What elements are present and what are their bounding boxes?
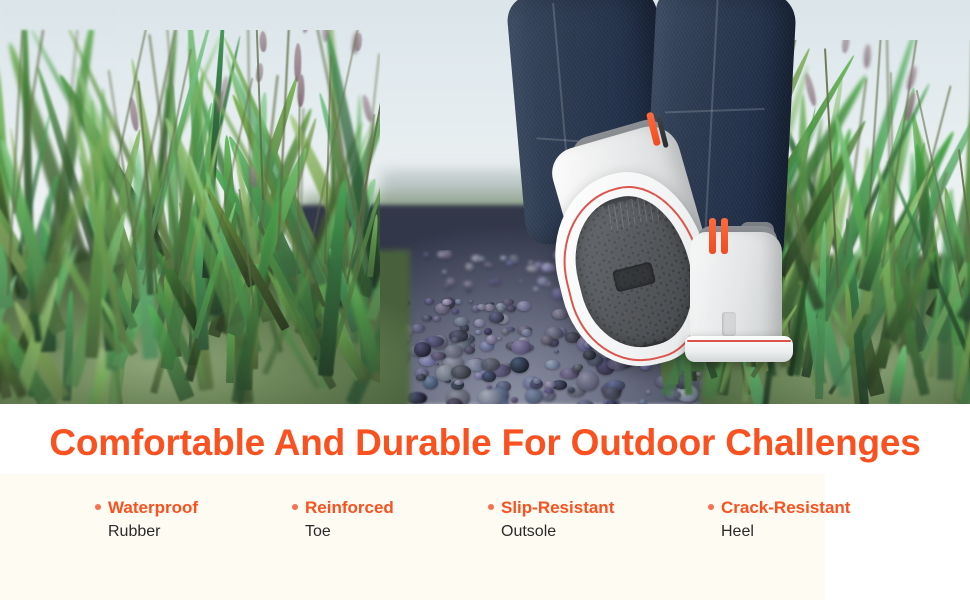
feature-title-text: Waterproof xyxy=(108,498,198,517)
feature-title: Crack-Resistant xyxy=(708,497,850,519)
pull-tab-orange xyxy=(721,218,728,254)
feature-title: Waterproof xyxy=(95,497,198,519)
product-banner: Comfortable And Durable For Outdoor Chal… xyxy=(0,0,970,600)
feature-title: Reinforced xyxy=(292,497,394,519)
bullet-dot-icon xyxy=(95,504,101,510)
page-title: Comfortable And Durable For Outdoor Chal… xyxy=(0,420,970,466)
hero-photo xyxy=(0,0,970,404)
boot-right-red-stripe xyxy=(687,340,791,342)
feature-title-text: Reinforced xyxy=(305,498,394,517)
bullet-dot-icon xyxy=(488,504,494,510)
feature-title-text: Slip-Resistant xyxy=(501,498,614,517)
feature-title: Slip-Resistant xyxy=(488,497,614,519)
feature-item: Slip-ResistantOutsole xyxy=(488,497,614,543)
feature-subtitle: Outsole xyxy=(501,521,614,543)
boot-right-heel-notch xyxy=(722,312,736,336)
feature-item: Crack-ResistantHeel xyxy=(708,497,850,543)
boot-right-shaft xyxy=(690,232,782,350)
feature-title-text: Crack-Resistant xyxy=(721,498,850,517)
grass-left xyxy=(0,30,380,404)
feature-item: ReinforcedToe xyxy=(292,497,394,543)
bullet-dot-icon xyxy=(708,504,714,510)
feature-subtitle: Toe xyxy=(305,521,394,543)
feature-subtitle: Rubber xyxy=(108,521,198,543)
feature-item: WaterproofRubber xyxy=(95,497,198,543)
feature-subtitle: Heel xyxy=(721,521,850,543)
pull-tab-orange xyxy=(709,218,716,254)
feature-list: WaterproofRubberReinforcedToeSlip-Resist… xyxy=(0,474,970,600)
bullet-dot-icon xyxy=(292,504,298,510)
